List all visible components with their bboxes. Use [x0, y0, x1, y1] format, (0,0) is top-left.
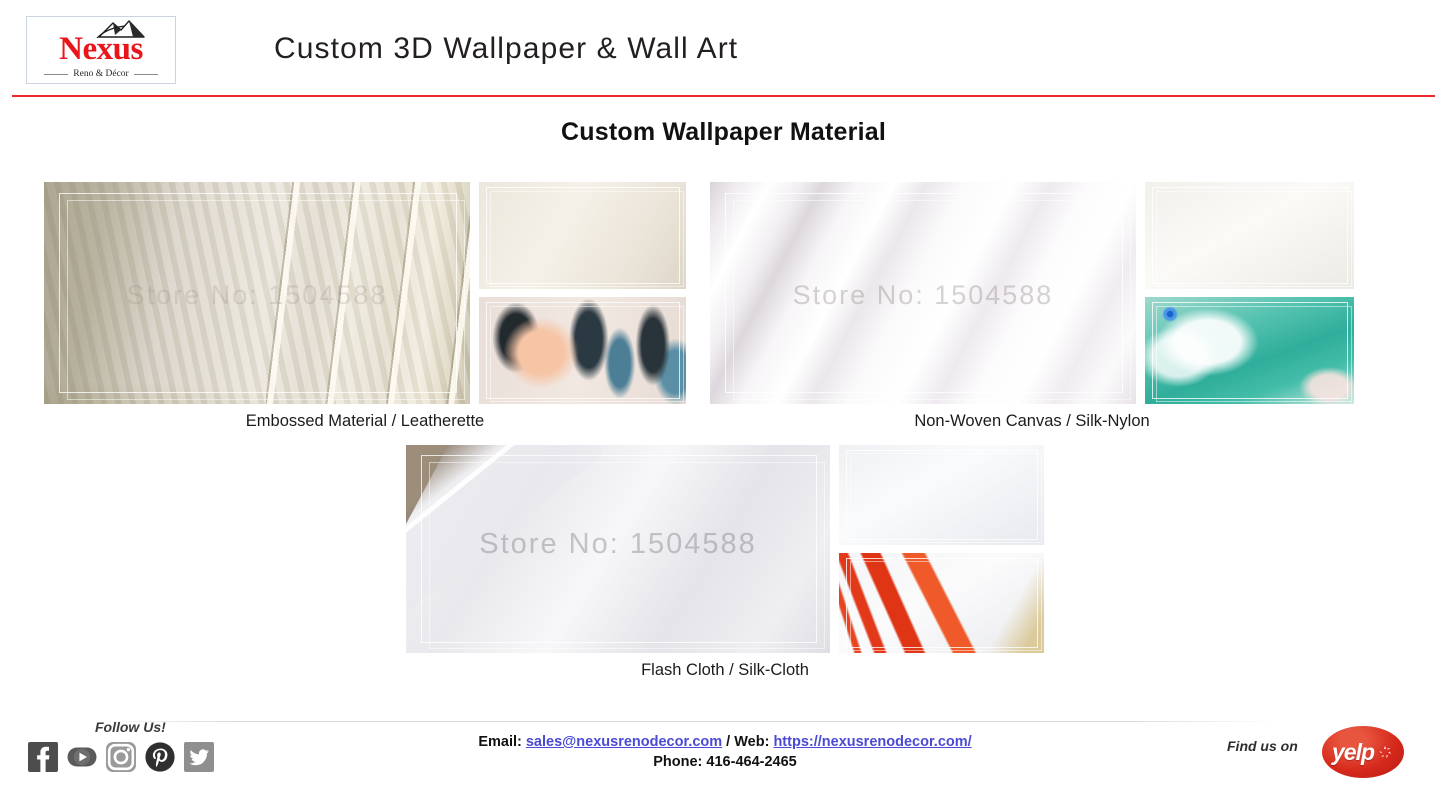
group-image-set: Store No: 1504588: [406, 445, 1044, 653]
image-flash-cloth-sheet[interactable]: Store No: 1504588: [406, 445, 830, 653]
social-links[interactable]: [28, 742, 214, 772]
image-red-printed-mesh-cloth[interactable]: [839, 553, 1044, 653]
web-label: Web:: [734, 734, 769, 750]
photo-inner-frame: [710, 182, 1136, 404]
brand-tagline-row: Reno & Décor: [27, 69, 175, 79]
image-flash-cloth-mesh-texture[interactable]: [839, 445, 1044, 545]
sheet-fold-highlight: [406, 445, 601, 653]
twitter-icon[interactable]: [184, 742, 214, 772]
photo-inner-frame: [1145, 182, 1354, 289]
contact-separator: /: [722, 734, 734, 750]
find-us-label: Find us on: [1227, 738, 1298, 754]
photo-inner-frame: [479, 297, 686, 404]
instagram-icon[interactable]: [106, 742, 136, 772]
tagline-rule-right: [134, 74, 158, 75]
material-group-embossed[interactable]: Store No: 1504588 Embossed Material / Le…: [44, 182, 686, 432]
image-woven-canvas-texture[interactable]: [1145, 182, 1354, 289]
image-embossed-wallpaper-roll[interactable]: Store No: 1504588: [44, 182, 470, 404]
photo-inner-frame: [1145, 297, 1354, 404]
tagline-rule-left: [44, 74, 68, 75]
image-embossed-texture-closeup[interactable]: [479, 182, 686, 289]
page-title: Custom 3D Wallpaper & Wall Art: [274, 30, 738, 68]
group-side-column: [479, 182, 686, 404]
image-white-silk-fabric-drape[interactable]: Store No: 1504588: [710, 182, 1136, 404]
image-teal-floral-print-silk[interactable]: [1145, 297, 1354, 404]
youtube-icon[interactable]: [67, 742, 97, 772]
brand-tagline: Reno & Décor: [73, 69, 128, 79]
contact-info: Email: sales@nexusrenodecor.com / Web: h…: [395, 732, 1055, 772]
caption-flashcloth: Flash Cloth / Silk-Cloth: [406, 661, 1044, 680]
phone-label: Phone:: [653, 754, 702, 770]
header-divider: [12, 95, 1435, 97]
group-image-set: Store No: 1504588: [44, 182, 686, 404]
photo-inner-frame: [839, 553, 1044, 653]
page-header: Nexus Reno & Décor Custom 3D Wallpaper &…: [0, 0, 1447, 96]
website-link[interactable]: https://nexusrenodecor.com/: [773, 734, 971, 750]
roll-edge-curls: [266, 182, 470, 404]
caption-nonwoven: Non-Woven Canvas / Silk-Nylon: [710, 412, 1354, 431]
yelp-burst-icon: [1376, 743, 1394, 761]
brand-logo[interactable]: Nexus Reno & Décor: [26, 16, 176, 84]
footer-divider: [86, 721, 1276, 722]
yelp-badge[interactable]: yelp: [1322, 726, 1404, 778]
brand-wordmark: Nexus: [27, 33, 175, 66]
group-image-set: Store No: 1504588: [710, 182, 1354, 404]
facebook-icon[interactable]: [28, 742, 58, 772]
material-group-flashcloth[interactable]: Store No: 1504588 Flash Cloth / Silk-Clo…: [406, 445, 1044, 695]
contact-line-email-web: Email: sales@nexusrenodecor.com / Web: h…: [395, 732, 1055, 752]
group-side-column: [839, 445, 1044, 653]
group-side-column: [1145, 182, 1354, 404]
email-link[interactable]: sales@nexusrenodecor.com: [526, 734, 722, 750]
photo-inner-frame: [839, 445, 1044, 545]
pinterest-icon[interactable]: [145, 742, 175, 772]
store-watermark: Store No: 1504588: [710, 280, 1136, 311]
material-group-nonwoven[interactable]: Store No: 1504588 Non-Woven Canvas / Sil…: [710, 182, 1354, 432]
yelp-wordmark: yelp: [1332, 739, 1374, 766]
section-heading: Custom Wallpaper Material: [0, 118, 1447, 147]
follow-us-label: Follow Us!: [95, 719, 166, 735]
email-label: Email:: [478, 734, 522, 750]
caption-embossed: Embossed Material / Leatherette: [44, 412, 686, 431]
image-embossed-printed-pattern[interactable]: [479, 297, 686, 404]
phone-number: 416-464-2465: [706, 754, 796, 770]
photo-inner-frame: [479, 182, 686, 289]
contact-line-phone: Phone: 416-464-2465: [395, 752, 1055, 772]
